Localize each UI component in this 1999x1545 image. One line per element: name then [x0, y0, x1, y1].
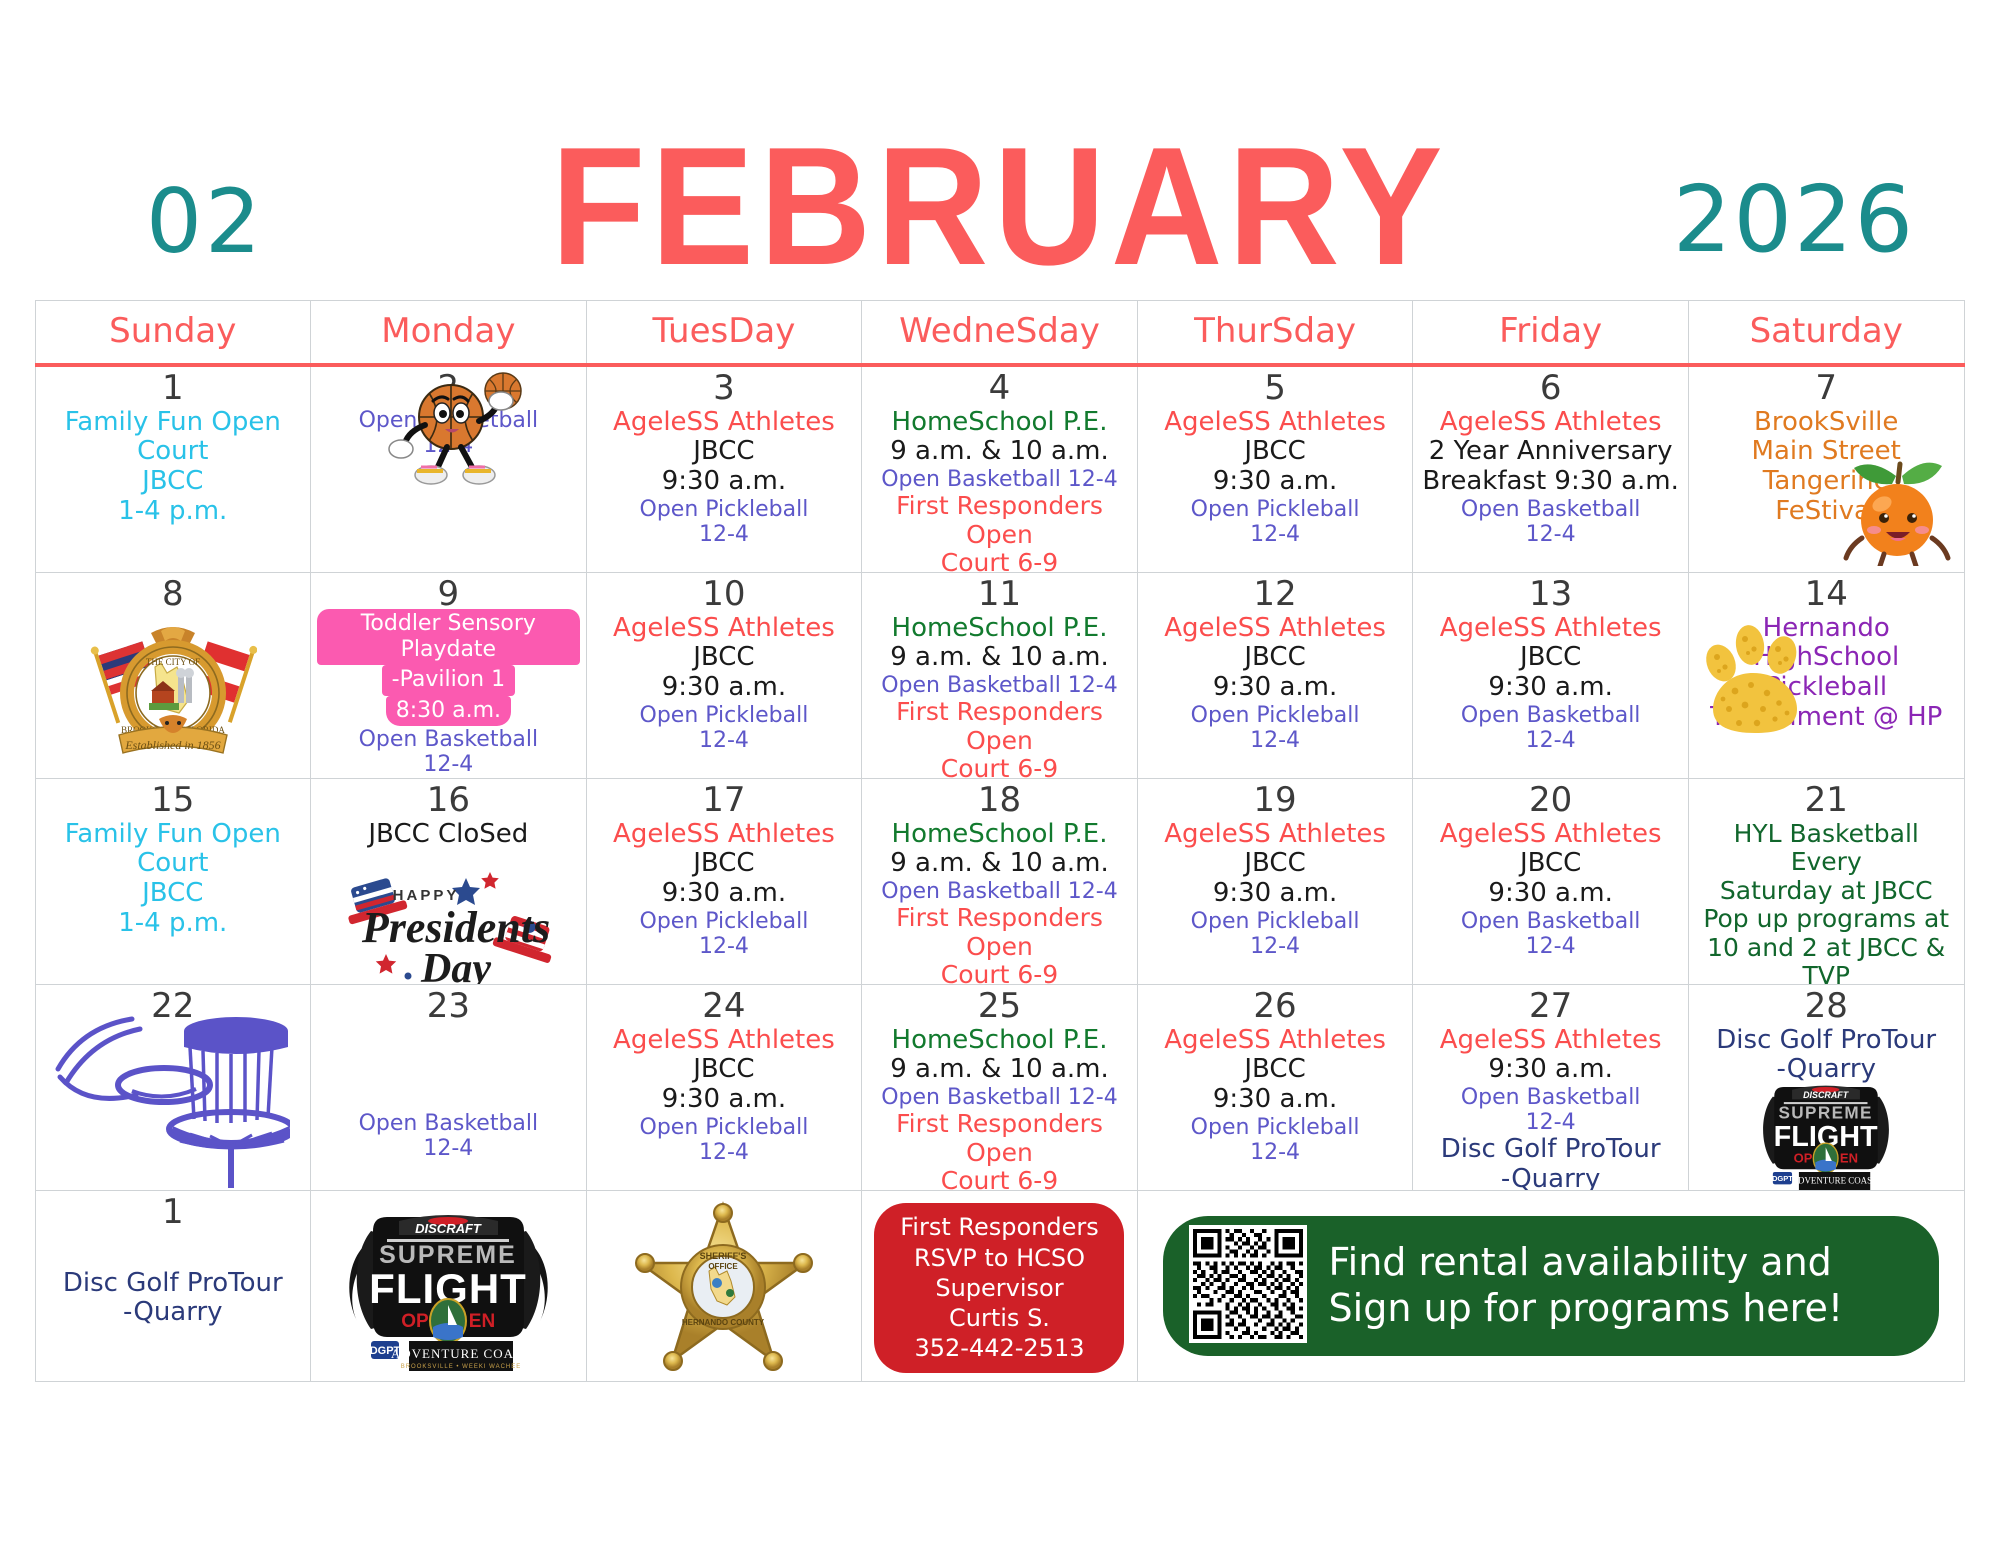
day-cell-21[interactable]: 21HYL Basketball EverySaturday at JBCCPo… [1689, 779, 1965, 984]
event-text: Disc Golf ProTour [1419, 1135, 1682, 1165]
rsvp-phone: 352-442-2513 [874, 1333, 1124, 1363]
hernando-sheriff-badge-icon: SHERIFF'S OFFICE HERNANDO COUNTY [593, 1201, 856, 1381]
day-number: 9 [317, 577, 580, 613]
day-number: 26 [1144, 989, 1407, 1025]
event-text: Open Basketball [317, 727, 580, 752]
first-responders-rsvp-box: First Responders RSVP to HCSO Supervisor… [874, 1203, 1124, 1373]
rental-signup-banner[interactable]: Find rental availability and Sign up for… [1163, 1216, 1939, 1356]
event-list: AgeleSS AthletesJBCC9:30 a.m.Open Pickle… [593, 614, 856, 753]
event-text: Open Basketball 12-4 [868, 1085, 1131, 1110]
event-text: JBCC [42, 879, 305, 909]
event-text: 9 a.m. & 10 a.m. [868, 1055, 1131, 1085]
event-text: Open Basketball [317, 1111, 580, 1136]
day-number: 25 [868, 989, 1131, 1025]
presidents-day-graphic-icon: HAPPY Presidents Day [338, 866, 558, 984]
event-text: 9:30 a.m. [1419, 879, 1682, 909]
weekday-header-monday: Monday [311, 301, 587, 363]
day-number: 4 [868, 371, 1131, 407]
year-label: 2026 [1629, 174, 1959, 300]
day-number: 20 [1419, 783, 1682, 819]
event-text: 12-4 [1144, 1140, 1407, 1165]
day-number: 21 [1695, 783, 1958, 819]
qr-code-icon[interactable] [1189, 1225, 1307, 1347]
event-text: Court 6-9 [868, 549, 1131, 572]
event-text: 9:30 a.m. [1419, 1055, 1682, 1085]
event-text: AgeleSS Athletes [1144, 614, 1407, 644]
event-text: JBCC [1144, 437, 1407, 467]
event-text: Open Basketball [1419, 703, 1682, 728]
svg-text:EN: EN [469, 1311, 495, 1332]
event-text: JBCC [593, 849, 856, 879]
event-list: HomeSchool P.E.9 a.m. & 10 a.m.Open Bask… [868, 408, 1131, 572]
calendar-week-row: 8 [35, 573, 1965, 779]
event-text: JBCC [1419, 643, 1682, 673]
day-cell-20[interactable]: 20AgeleSS AthletesJBCC9:30 a.m.Open Bask… [1413, 779, 1689, 984]
event-text: Family Fun Open [42, 408, 305, 438]
event-text: AgeleSS Athletes [1144, 1026, 1407, 1056]
event-text: -Quarry [42, 1298, 305, 1328]
svg-text:EN: EN [1840, 1150, 1858, 1165]
event-text: 12-4 [593, 1140, 856, 1165]
day-number: 15 [42, 783, 305, 819]
day-cell-14[interactable]: 14 HernandoHighSchoolPickleballTournamen… [1689, 573, 1965, 778]
svg-text:Day: Day [420, 946, 491, 984]
event-text: JBCC [1419, 849, 1682, 879]
event-list: Family Fun OpenCourtJBCC1-4 p.m. [42, 820, 305, 939]
event-text: First Responders Open [868, 698, 1131, 755]
rsvp-line: RSVP to HCSO [874, 1243, 1124, 1273]
day-number: 1 [42, 1195, 305, 1231]
event-text: HYL Basketball Every [1695, 820, 1958, 877]
event-text: Open Basketball 12-4 [868, 467, 1131, 492]
rental-banner-line-2: Sign up for programs here! [1329, 1286, 1844, 1332]
day-cell-11[interactable]: 11HomeSchool P.E.9 a.m. & 10 a.m.Open Ba… [862, 573, 1138, 778]
day-cell-23[interactable]: 23Open Basketball12-4 [311, 985, 587, 1190]
day-number: 27 [1419, 989, 1682, 1025]
event-text: JBCC [1144, 1055, 1407, 1085]
event-text: AgeleSS Athletes [593, 820, 856, 850]
event-text: First Responders Open [868, 904, 1131, 961]
event-text: 12-4 [593, 728, 856, 753]
highlight-line: Toddler Sensory Playdate [317, 609, 580, 666]
day-number: 14 [1695, 577, 1958, 613]
svg-text:DISCRAFT: DISCRAFT [415, 1221, 482, 1236]
event-text: Breakfast 9:30 a.m. [1419, 467, 1682, 497]
footer-cell-rental-banner[interactable]: Find rental availability and Sign up for… [1138, 1191, 1965, 1381]
event-text: Open Basketball 12-4 [868, 673, 1131, 698]
event-text: Saturday at JBCC [1695, 877, 1958, 906]
svg-text:OFFICE: OFFICE [709, 1262, 739, 1271]
event-text: 9:30 a.m. [1144, 1085, 1407, 1115]
day-number: 18 [868, 783, 1131, 819]
event-text: 9:30 a.m. [593, 879, 856, 909]
event-text: Court 6-9 [868, 961, 1131, 984]
weekday-header-saturday: Saturday [1689, 301, 1965, 363]
svg-text:Established in 1856: Established in 1856 [124, 738, 220, 752]
event-text: 10 and 2 at JBCC & TVP [1695, 934, 1958, 984]
event-list: HomeSchool P.E.9 a.m. & 10 a.m.Open Bask… [868, 614, 1131, 778]
day-cell-13[interactable]: 13AgeleSS AthletesJBCC9:30 a.m.Open Bask… [1413, 573, 1689, 778]
page-title: FEBRUARY [420, 122, 1578, 300]
day-number: 5 [1144, 371, 1407, 407]
event-text: 12-4 [593, 522, 856, 547]
event-text: First Responders Open [868, 492, 1131, 549]
day-cell-6[interactable]: 6AgeleSS Athletes2 Year AnniversaryBreak… [1413, 367, 1689, 572]
day-cell-16[interactable]: 16 HAPPY Presidents Day JBCC Clo [311, 779, 587, 984]
event-text: 12-4 [1144, 934, 1407, 959]
event-list: JBCC CloSed [317, 820, 580, 850]
event-list: Family Fun OpenCourtJBCC1-4 p.m. [42, 408, 305, 527]
svg-text:SHERIFF'S: SHERIFF'S [700, 1251, 747, 1261]
event-text: First Responders Open [868, 1110, 1131, 1167]
highlighted-event-block: Toddler Sensory Playdate-Pavilion 18:30 … [317, 609, 580, 727]
event-text: 1-4 p.m. [42, 909, 305, 939]
event-text: Open Basketball 12-4 [868, 879, 1131, 904]
event-text: JBCC [42, 467, 305, 497]
event-text: 9 a.m. & 10 a.m. [868, 643, 1131, 673]
event-text: 9:30 a.m. [1144, 673, 1407, 703]
event-text: AgeleSS Athletes [1419, 820, 1682, 850]
day-cell-22[interactable]: 22 [36, 985, 312, 1190]
event-text: Open Basketball [1419, 497, 1682, 522]
event-list: HomeSchool P.E.9 a.m. & 10 a.m.Open Bask… [868, 1026, 1131, 1190]
day-number: 19 [1144, 783, 1407, 819]
event-text: 9:30 a.m. [1144, 879, 1407, 909]
event-text: 9:30 a.m. [593, 1085, 856, 1115]
footer-cell-discraft-logo: DISCRAFT SUPREME FLIGHT OP EN DGPT ADVEN… [311, 1191, 587, 1381]
event-text: Family Fun Open [42, 820, 305, 850]
calendar-week-row: 15Family Fun OpenCourtJBCC1-4 p.m.16 HAP… [35, 779, 1965, 985]
event-text: AgeleSS Athletes [593, 1026, 856, 1056]
day-number: 7 [1695, 371, 1958, 407]
footer-cell-sheriff-badge: SHERIFF'S OFFICE HERNANDO COUNTY [587, 1191, 863, 1381]
event-text: Pop up programs at [1695, 905, 1958, 934]
event-text: Open Pickleball [593, 703, 856, 728]
day-number: 16 [317, 783, 580, 819]
day-cell-5[interactable]: 5AgeleSS AthletesJBCC9:30 a.m.Open Pickl… [1138, 367, 1414, 572]
presidents-day-icon: HAPPY Presidents Day [338, 866, 558, 984]
day-cell-18[interactable]: 18HomeSchool P.E.9 a.m. & 10 a.m.Open Ba… [862, 779, 1138, 984]
calendar-weeks: 1Family Fun OpenCourtJBCC1-4 p.m.2 Open … [35, 367, 1965, 1191]
day-cell-25[interactable]: 25HomeSchool P.E.9 a.m. & 10 a.m.Open Ba… [862, 985, 1138, 1190]
rental-banner-text: Find rental availability and Sign up for… [1329, 1240, 1844, 1331]
day-cell-1[interactable]: 1Family Fun OpenCourtJBCC1-4 p.m. [36, 367, 312, 572]
discraft-supreme-flight-logo: DISCRAFT SUPREME FLIGHT OP EN DGPT ADVEN… [317, 1201, 580, 1380]
weekday-header-wednesday: WedneSday [862, 301, 1138, 363]
event-list: AgeleSS Athletes2 Year AnniversaryBreakf… [1419, 408, 1682, 547]
event-text: Court 6-9 [868, 755, 1131, 778]
event-text: Open Pickleball [1144, 1115, 1407, 1140]
event-text: 1-4 p.m. [42, 497, 305, 527]
event-text: 9 a.m. & 10 a.m. [868, 849, 1131, 879]
event-text: 12-4 [1419, 728, 1682, 753]
weekday-header-thursday: ThurSday [1138, 301, 1414, 363]
day-cell-3[interactable]: 3AgeleSS AthletesJBCC9:30 a.m.Open Pickl… [587, 367, 863, 572]
event-text: AgeleSS Athletes [1144, 408, 1407, 438]
event-text: Open Pickleball [1144, 909, 1407, 934]
disc-golf-basket-icon [40, 1003, 290, 1188]
event-text: Open Pickleball [593, 497, 856, 522]
event-text: 12-4 [593, 934, 856, 959]
event-text: Open Basketball [1419, 909, 1682, 934]
calendar-week-row: 1Family Fun OpenCourtJBCC1-4 p.m.2 Open … [35, 367, 1965, 573]
day-number: 1 [42, 371, 305, 407]
day-cell-march-1[interactable]: 1 Disc Golf ProTour -Quarry [36, 1191, 312, 1381]
event-text: JBCC CloSed [317, 820, 580, 850]
day-cell-24[interactable]: 24AgeleSS AthletesJBCC9:30 a.m.Open Pick… [587, 985, 863, 1190]
event-text: AgeleSS Athletes [593, 614, 856, 644]
event-text: 12-4 [1144, 522, 1407, 547]
event-text: 9:30 a.m. [1419, 673, 1682, 703]
basketball-mascot-icon [385, 369, 535, 489]
event-text: HomeSchool P.E. [868, 408, 1131, 438]
event-text: 9:30 a.m. [1144, 467, 1407, 497]
day-number: 6 [1419, 371, 1682, 407]
event-list: AgeleSS AthletesJBCC9:30 a.m.Open Basket… [1419, 820, 1682, 959]
day-cell-26[interactable]: 26AgeleSS AthletesJBCC9:30 a.m.Open Pick… [1138, 985, 1414, 1190]
weekday-header-sunday: Sunday [36, 301, 312, 363]
event-text: AgeleSS Athletes [1419, 614, 1682, 644]
calendar-header: 02 FEBRUARY 2026 [0, 0, 1999, 300]
day-cell-7[interactable]: 7 BrookSvilleMain StreetTangerineFeStiva… [1689, 367, 1965, 572]
event-list: Open Basketball12-4 [317, 1111, 580, 1161]
event-text: 12-4 [1419, 934, 1682, 959]
day-cell-28[interactable]: 28 DISCRAFT SUPREME FLIGHT OP EN DGPT AD… [1689, 985, 1965, 1190]
event-list: AgeleSS AthletesJBCC9:30 a.m.Open Pickle… [1144, 614, 1407, 753]
event-list: Open Basketball12-4 [317, 727, 580, 777]
event-text: Disc Golf ProTour [42, 1269, 305, 1299]
day-number: 28 [1695, 989, 1958, 1025]
svg-text:THE CITY OF: THE CITY OF [146, 657, 200, 667]
event-list: HomeSchool P.E.9 a.m. & 10 a.m.Open Bask… [868, 820, 1131, 984]
event-text: JBCC [593, 437, 856, 467]
day-cell-10[interactable]: 10AgeleSS AthletesJBCC9:30 a.m.Open Pick… [587, 573, 863, 778]
event-text: Court [42, 437, 305, 467]
svg-text:HERNANDO COUNTY: HERNANDO COUNTY [682, 1318, 765, 1327]
day-number: 10 [593, 577, 856, 613]
weekday-header-row: Sunday Monday TuesDay WedneSday ThurSday… [35, 300, 1965, 363]
day-number: 8 [42, 577, 305, 613]
day-number: 12 [1144, 577, 1407, 613]
event-text: BrookSville [1695, 408, 1958, 438]
discraft-supreme-flight-logo-icon: DISCRAFT SUPREME FLIGHT OP EN DGPT ADVEN… [1739, 1076, 1914, 1190]
event-text: JBCC [1144, 849, 1407, 879]
day-number: 23 [317, 989, 580, 1025]
month-number: 02 [40, 178, 370, 300]
event-text: HomeSchool P.E. [868, 820, 1131, 850]
day-cell-27[interactable]: 27AgeleSS Athletes9:30 a.m.Open Basketba… [1413, 985, 1689, 1190]
svg-text:DGPT: DGPT [1772, 1174, 1793, 1183]
weekday-header-tuesday: TuesDay [587, 301, 863, 363]
event-text: HomeSchool P.E. [868, 1026, 1131, 1056]
event-text: 12-4 [1419, 522, 1682, 547]
brooksville-city-seal-icon: THE CITY OF BROOKSVILLE FLORIDA Establis… [89, 615, 257, 769]
day-number: 13 [1419, 577, 1682, 613]
event-text: Open Basketball [1419, 1085, 1682, 1110]
svg-text:OP: OP [401, 1311, 429, 1332]
svg-text:SUPREME: SUPREME [1779, 1103, 1873, 1123]
calendar-footer-row: 1 Disc Golf ProTour -Quarry DISCRAFT [35, 1191, 1965, 1382]
svg-text:ADVENTURE COAST: ADVENTURE COAST [1792, 1176, 1878, 1186]
event-text: Open Pickleball [1144, 497, 1407, 522]
event-list: AgeleSS AthletesJBCC9:30 a.m.Open Pickle… [1144, 1026, 1407, 1165]
rental-banner-line-1: Find rental availability and [1329, 1240, 1844, 1286]
event-list: AgeleSS AthletesJBCC9:30 a.m.Open Basket… [1419, 614, 1682, 753]
event-text: AgeleSS Athletes [1144, 820, 1407, 850]
event-text: AgeleSS Athletes [1419, 408, 1682, 438]
disc-golf-basket-icon [40, 1003, 290, 1190]
weekday-header-friday: Friday [1413, 301, 1689, 363]
event-list: AgeleSS AthletesJBCC9:30 a.m.Open Pickle… [593, 820, 856, 959]
day-cell-4[interactable]: 4HomeSchool P.E.9 a.m. & 10 a.m.Open Bas… [862, 367, 1138, 572]
event-list: AgeleSS AthletesJBCC9:30 a.m.Open Pickle… [1144, 820, 1407, 959]
day-number: 24 [593, 989, 856, 1025]
svg-text:ADVENTURE COAST: ADVENTURE COAST [391, 1346, 531, 1361]
paw-print-icon [1693, 617, 1823, 737]
day-cell-19[interactable]: 19AgeleSS AthletesJBCC9:30 a.m.Open Pick… [1138, 779, 1414, 984]
svg-text:Presidents: Presidents [361, 903, 550, 952]
svg-text:OP: OP [1794, 1150, 1813, 1165]
event-text: Court 6-9 [868, 1167, 1131, 1190]
event-text: 2 Year Anniversary [1419, 437, 1682, 467]
day-cell-17[interactable]: 17AgeleSS AthletesJBCC9:30 a.m.Open Pick… [587, 779, 863, 984]
event-text: HomeSchool P.E. [868, 614, 1131, 644]
brooksville-city-seal-icon: THE CITY OF BROOKSVILLE FLORIDA Establis… [89, 615, 257, 765]
event-list: AgeleSS Athletes9:30 a.m.Open Basketball… [1419, 1026, 1682, 1190]
tangerine-mascot-icon [1832, 446, 1962, 566]
event-text: 9:30 a.m. [593, 673, 856, 703]
paw-print-icon [1693, 617, 1823, 741]
event-text: 12-4 [317, 1136, 580, 1161]
svg-text:HAPPY: HAPPY [393, 887, 460, 904]
day-number: 3 [593, 371, 856, 407]
event-text: Open Pickleball [593, 1115, 856, 1140]
event-text: 9:30 a.m. [593, 467, 856, 497]
calendar-week-row: 22 23Open Basketball12-4 [35, 985, 1965, 1191]
basketball-mascot-icon [385, 369, 535, 493]
highlight-line: 8:30 a.m. [386, 696, 511, 726]
day-cell-12[interactable]: 12AgeleSS AthletesJBCC9:30 a.m.Open Pick… [1138, 573, 1414, 778]
event-text: JBCC [593, 1055, 856, 1085]
event-text: Court [42, 849, 305, 879]
svg-text:BROOKSVILLE • WEEKI WACHEE: BROOKSVILLE • WEEKI WACHEE [401, 1364, 522, 1370]
tangerine-mascot-icon [1832, 446, 1962, 570]
calendar-grid: Sunday Monday TuesDay WedneSday ThurSday… [35, 300, 1965, 363]
event-text: 12-4 [1419, 1110, 1682, 1135]
event-text: 12-4 [1144, 728, 1407, 753]
day-cell-8[interactable]: 8 [36, 573, 312, 778]
event-list: AgeleSS AthletesJBCC9:30 a.m.Open Pickle… [593, 1026, 856, 1165]
event-text: Open Pickleball [1144, 703, 1407, 728]
event-text: JBCC [1144, 643, 1407, 673]
day-cell-15[interactable]: 15Family Fun OpenCourtJBCC1-4 p.m. [36, 779, 312, 984]
discraft-logo-icon: DISCRAFT SUPREME FLIGHT OP EN DGPT ADVEN… [1739, 1076, 1914, 1190]
event-list: AgeleSS AthletesJBCC9:30 a.m.Open Pickle… [593, 408, 856, 547]
event-text: Open Pickleball [593, 909, 856, 934]
rsvp-line: Curtis S. [874, 1303, 1124, 1333]
footer-cell-first-responders-rsvp[interactable]: First Responders RSVP to HCSO Supervisor… [862, 1191, 1138, 1381]
day-number: 11 [868, 577, 1131, 613]
rsvp-line: First Responders [874, 1212, 1124, 1242]
event-text: 12-4 [317, 752, 580, 777]
day-cell-2[interactable]: 2 Open Basketball12-4 [311, 367, 587, 572]
day-number: 17 [593, 783, 856, 819]
day-cell-9[interactable]: 9Toddler Sensory Playdate-Pavilion 18:30… [311, 573, 587, 778]
event-text: JBCC [593, 643, 856, 673]
event-list: AgeleSS AthletesJBCC9:30 a.m.Open Pickle… [1144, 408, 1407, 547]
event-text: Disc Golf ProTour [1695, 1026, 1958, 1056]
event-text: -Quarry [1419, 1165, 1682, 1190]
highlight-line: -Pavilion 1 [382, 665, 515, 695]
event-list: HYL Basketball EverySaturday at JBCCPop … [1695, 820, 1958, 984]
svg-text:DISCRAFT: DISCRAFT [1803, 1090, 1850, 1100]
event-text: AgeleSS Athletes [593, 408, 856, 438]
event-text: AgeleSS Athletes [1419, 1026, 1682, 1056]
rsvp-line: Supervisor [874, 1273, 1124, 1303]
event-text: 9 a.m. & 10 a.m. [868, 437, 1131, 467]
